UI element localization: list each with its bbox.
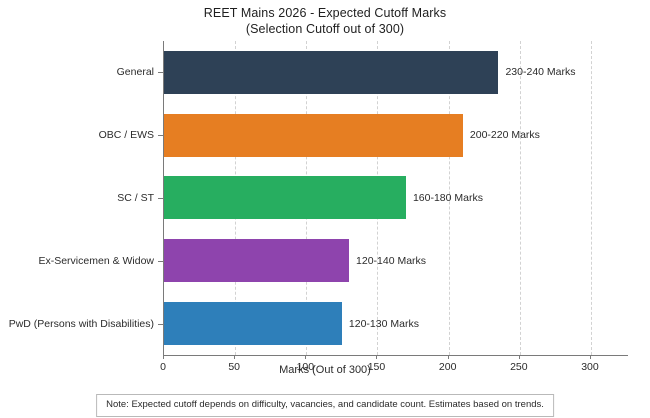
bar-row: 160-180 Marks xyxy=(164,167,628,230)
chart-title: REET Mains 2026 - Expected Cutoff Marks xyxy=(0,5,650,21)
y-tick-label: OBC / EWS xyxy=(99,129,154,141)
bar-5[interactable] xyxy=(164,302,342,345)
chart-subtitle: (Selection Cutoff out of 300) xyxy=(0,21,650,37)
y-axis: GeneralOBC / EWSSC / STEx-Servicemen & W… xyxy=(0,41,163,355)
footer-note: Note: Expected cutoff depends on difficu… xyxy=(96,394,554,417)
bar-row: 230-240 Marks xyxy=(164,41,628,104)
bar-value-label: 230-240 Marks xyxy=(505,66,575,78)
x-tick-mark xyxy=(234,355,235,359)
x-tick-mark xyxy=(448,355,449,359)
x-tick-mark xyxy=(519,355,520,359)
y-tick-label: General xyxy=(117,66,154,78)
y-tick-label: SC / ST xyxy=(117,192,154,204)
y-tick-label: Ex-Servicemen & Widow xyxy=(38,255,154,267)
x-tick-mark xyxy=(590,355,591,359)
bar-value-label: 120-140 Marks xyxy=(356,255,426,267)
chart-title-block: REET Mains 2026 - Expected Cutoff Marks … xyxy=(0,5,650,37)
plot-area: 230-240 Marks200-220 Marks160-180 Marks1… xyxy=(163,41,628,356)
x-tick-mark xyxy=(376,355,377,359)
y-tick-label: PwD (Persons with Disabilities) xyxy=(9,318,154,330)
bar-row: 120-130 Marks xyxy=(164,292,628,355)
bar-value-label: 120-130 Marks xyxy=(349,318,419,330)
x-tick-mark xyxy=(163,355,164,359)
x-axis-title: Marks (Out of 300) xyxy=(0,364,650,376)
bar-value-label: 160-180 Marks xyxy=(413,192,483,204)
bar-value-label: 200-220 Marks xyxy=(470,129,540,141)
bar-2[interactable] xyxy=(164,114,463,157)
bar-1[interactable] xyxy=(164,51,498,94)
bar-row: 200-220 Marks xyxy=(164,104,628,167)
chart-figure: REET Mains 2026 - Expected Cutoff Marks … xyxy=(0,0,650,418)
bar-3[interactable] xyxy=(164,176,406,219)
bar-4[interactable] xyxy=(164,239,349,282)
x-tick-mark xyxy=(305,355,306,359)
bar-row: 120-140 Marks xyxy=(164,229,628,292)
